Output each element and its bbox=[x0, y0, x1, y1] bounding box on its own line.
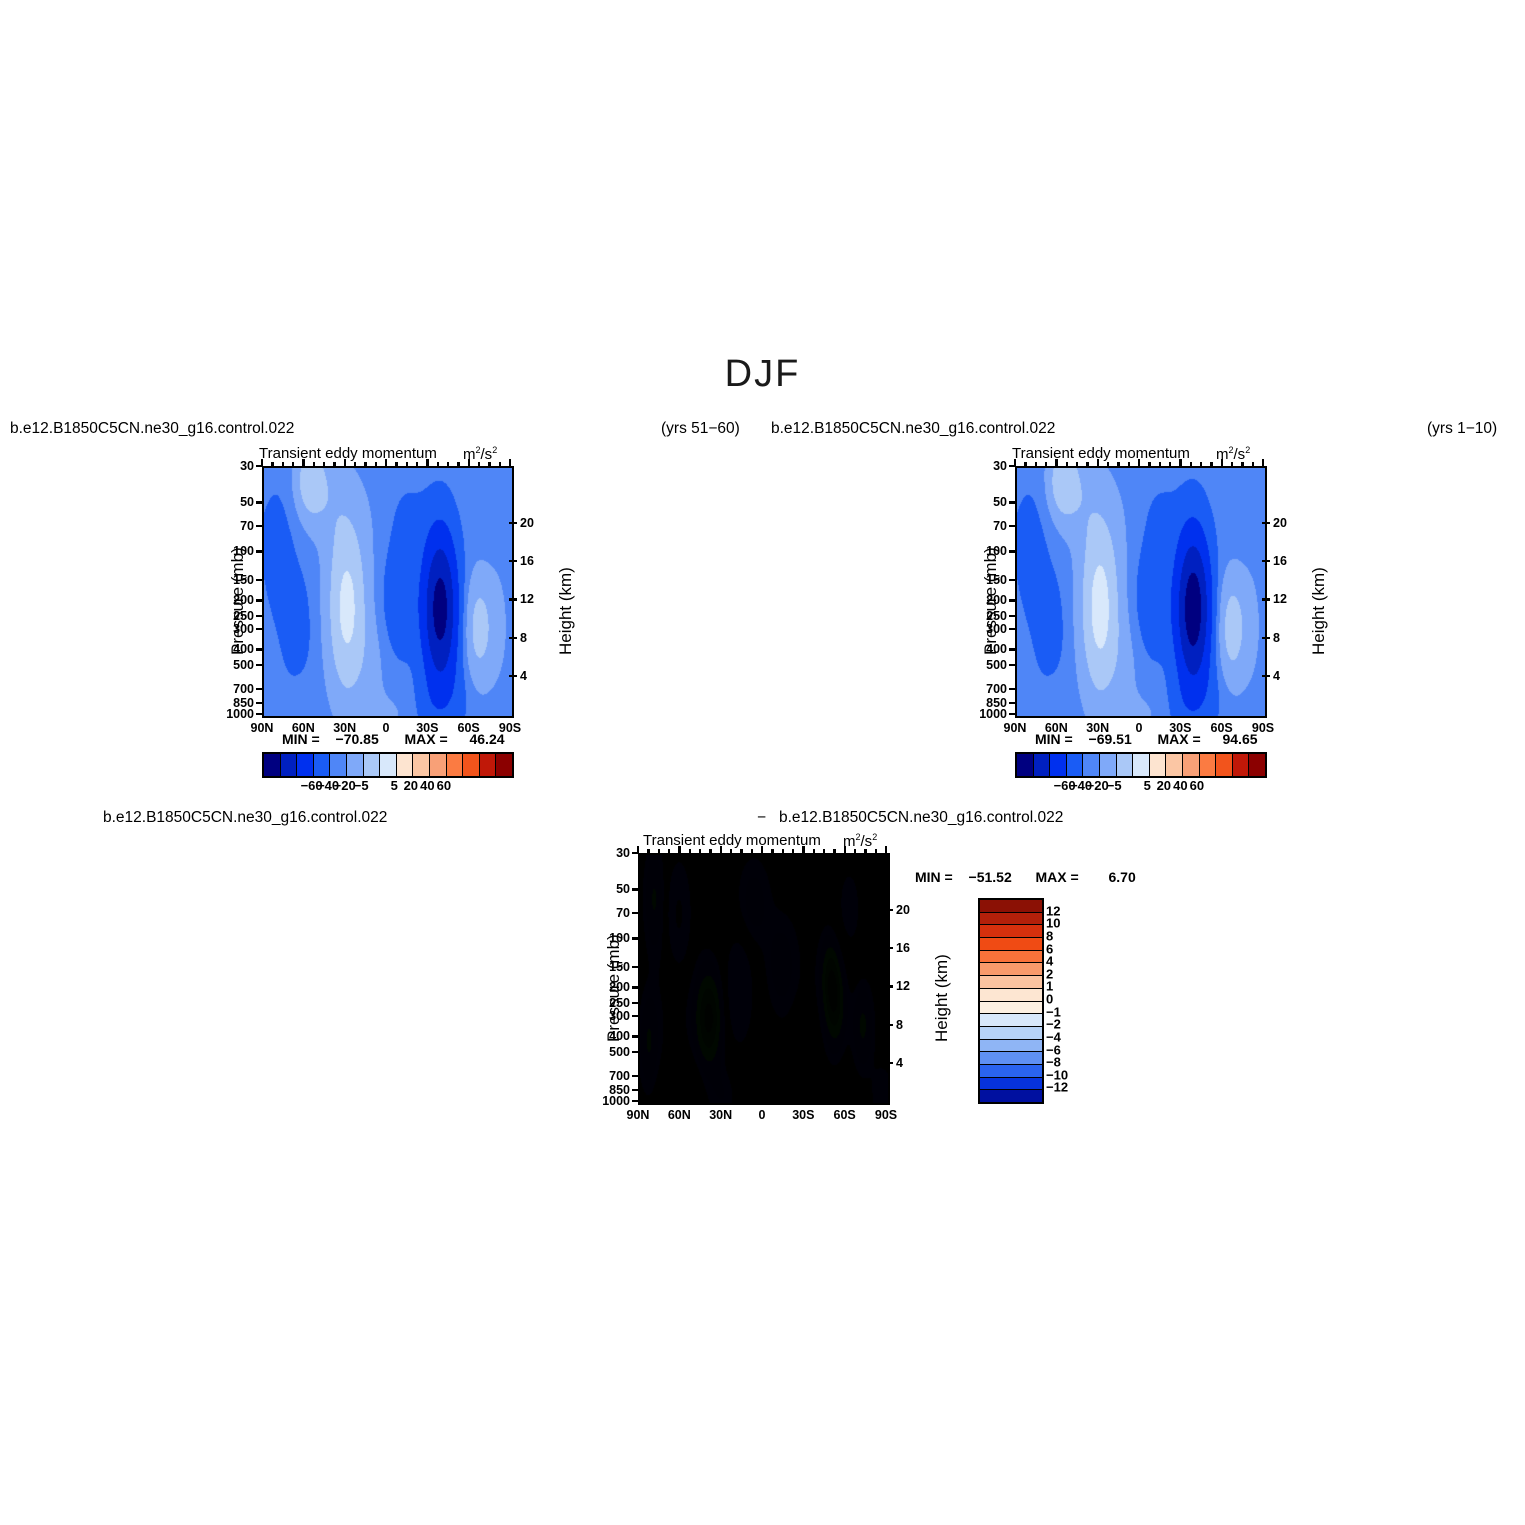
colorbar-difference bbox=[978, 898, 1044, 1104]
x-minor-tick bbox=[1221, 462, 1223, 467]
colorbar-label-6: 40 bbox=[420, 778, 434, 793]
y-tick-700: 700 bbox=[975, 682, 1007, 696]
x-minor-tick bbox=[1179, 462, 1181, 467]
colorbar-swatch-14 bbox=[1249, 754, 1265, 776]
x-minor-tick bbox=[1097, 462, 1099, 467]
diff-colorbar-swatch-1 bbox=[980, 913, 1042, 926]
x-minor-tick bbox=[1045, 462, 1047, 467]
x-minor-tick bbox=[771, 849, 773, 854]
x-tick-90N: 90N bbox=[1004, 721, 1027, 735]
x-minor-tick bbox=[1086, 462, 1088, 467]
y-tickmark bbox=[632, 1002, 639, 1004]
run-label-bottom-left: b.e12.B1850C5CN.ne30_g16.control.022 bbox=[103, 810, 387, 826]
height-tick-12: 12 bbox=[520, 592, 534, 606]
y-tick-300: 300 bbox=[598, 1009, 630, 1023]
x-minor-tick bbox=[292, 462, 294, 467]
y-tick-200: 200 bbox=[222, 593, 254, 607]
colorbar-swatch-12 bbox=[463, 754, 480, 776]
x-tickmark-top bbox=[1014, 459, 1016, 467]
run-label-bottom-right: b.e12.B1850C5CN.ne30_g16.control.022 bbox=[779, 810, 1063, 826]
colorbar-label-4: 5 bbox=[391, 778, 398, 793]
x-minor-tick bbox=[437, 462, 439, 467]
x-minor-tick bbox=[1159, 462, 1161, 467]
height-tick-16: 16 bbox=[896, 941, 910, 955]
x-tickmark-top bbox=[261, 459, 263, 467]
height-tickmark bbox=[885, 1024, 893, 1026]
colorbar-label-7: 60 bbox=[1190, 778, 1204, 793]
y-tick-30: 30 bbox=[598, 846, 630, 860]
diff-colorbar-swatch-9 bbox=[980, 1014, 1042, 1027]
x-tick-0: 0 bbox=[759, 1108, 766, 1122]
diff-colorbar-swatch-2 bbox=[980, 925, 1042, 938]
y-right-axis-label-top-left: Height (km) bbox=[556, 567, 576, 655]
x-tick-90N: 90N bbox=[627, 1108, 650, 1122]
y-tickmark bbox=[632, 1035, 639, 1037]
height-tick-8: 8 bbox=[1273, 631, 1280, 645]
y-right-axis-label-bottom: Height (km) bbox=[932, 954, 952, 1042]
x-minor-tick bbox=[1148, 462, 1150, 467]
x-minor-tick bbox=[689, 849, 691, 854]
colorbar-swatch-3 bbox=[1067, 754, 1084, 776]
y-tickmark bbox=[632, 912, 639, 914]
x-minor-tick bbox=[678, 849, 680, 854]
height-tickmark bbox=[885, 985, 893, 987]
colorbar-swatch-10 bbox=[1183, 754, 1200, 776]
y-tickmark bbox=[256, 648, 263, 650]
colorbar-swatch-10 bbox=[430, 754, 447, 776]
y-tick-200: 200 bbox=[598, 980, 630, 994]
x-tick-60S: 60S bbox=[834, 1108, 856, 1122]
y-tick-50: 50 bbox=[222, 495, 254, 509]
y-tickmark bbox=[1009, 702, 1016, 704]
years-label-top-left: (yrs 51−60) bbox=[661, 421, 740, 437]
y-tick-30: 30 bbox=[975, 459, 1007, 473]
y-tick-400: 400 bbox=[222, 642, 254, 656]
y-tickmark bbox=[256, 628, 263, 630]
x-minor-tick bbox=[447, 462, 449, 467]
y-tick-100: 100 bbox=[975, 544, 1007, 558]
x-minor-tick bbox=[813, 849, 815, 854]
x-minor-tick bbox=[792, 849, 794, 854]
diff-colorbar-swatch-12 bbox=[980, 1052, 1042, 1065]
colorbar-swatch-0 bbox=[264, 754, 281, 776]
x-minor-tick bbox=[782, 849, 784, 854]
x-minor-tick bbox=[751, 849, 753, 854]
y-tick-700: 700 bbox=[598, 1069, 630, 1083]
x-minor-tick bbox=[658, 849, 660, 854]
x-tick-90S: 90S bbox=[875, 1108, 897, 1122]
y-tick-30: 30 bbox=[222, 459, 254, 473]
colorbar-swatch-9 bbox=[1166, 754, 1183, 776]
y-tickmark bbox=[256, 713, 263, 715]
y-tickmark bbox=[1009, 501, 1016, 503]
y-tick-250: 250 bbox=[975, 609, 1007, 623]
height-tickmark bbox=[1262, 637, 1270, 639]
y-tick-70: 70 bbox=[222, 519, 254, 533]
y-tickmark bbox=[632, 1089, 639, 1091]
x-minor-tick bbox=[468, 462, 470, 467]
x-minor-tick bbox=[271, 462, 273, 467]
x-minor-tick bbox=[709, 849, 711, 854]
y-tick-1000: 1000 bbox=[975, 707, 1007, 721]
colorbar-swatch-5 bbox=[347, 754, 364, 776]
x-minor-tick bbox=[1035, 462, 1037, 467]
x-minor-tick bbox=[730, 849, 732, 854]
x-minor-tick bbox=[833, 849, 835, 854]
colorbar-swatch-2 bbox=[297, 754, 314, 776]
colorbar-swatch-13 bbox=[1233, 754, 1250, 776]
y-tickmark bbox=[1009, 525, 1016, 527]
x-minor-tick bbox=[1117, 462, 1119, 467]
y-tickmark bbox=[632, 937, 639, 939]
height-tickmark bbox=[509, 522, 517, 524]
height-tick-12: 12 bbox=[896, 979, 910, 993]
x-minor-tick bbox=[1076, 462, 1078, 467]
y-tick-50: 50 bbox=[598, 882, 630, 896]
y-tick-250: 250 bbox=[598, 996, 630, 1010]
y-tick-500: 500 bbox=[598, 1045, 630, 1059]
x-minor-tick bbox=[875, 849, 877, 854]
x-minor-tick bbox=[1231, 462, 1233, 467]
minmax-top-left: MIN = −70.85 MAX = 46.24 bbox=[282, 731, 505, 747]
colorbar-swatch-8 bbox=[397, 754, 414, 776]
colorbar-swatch-8 bbox=[1150, 754, 1167, 776]
y-tickmark bbox=[1009, 599, 1016, 601]
x-minor-tick bbox=[1241, 462, 1243, 467]
x-minor-tick bbox=[1210, 462, 1212, 467]
colorbar-swatch-13 bbox=[480, 754, 497, 776]
colorbar-label-5: 20 bbox=[1157, 778, 1171, 793]
x-minor-tick bbox=[740, 849, 742, 854]
x-minor-tick bbox=[699, 849, 701, 854]
colorbar-swatch-1 bbox=[1034, 754, 1051, 776]
y-tickmark bbox=[632, 1100, 639, 1102]
plot-title-bottom: Transient eddy momentum bbox=[643, 832, 821, 849]
plot-area-top-left bbox=[262, 466, 514, 718]
diff-colorbar-swatch-15 bbox=[980, 1090, 1042, 1102]
y-tickmark bbox=[256, 664, 263, 666]
colorbar-swatch-4 bbox=[1083, 754, 1100, 776]
height-tickmark bbox=[509, 598, 517, 600]
page-title: DJF bbox=[0, 355, 1525, 393]
diff-colorbar-swatch-7 bbox=[980, 989, 1042, 1002]
y-tickmark bbox=[1009, 615, 1016, 617]
height-tick-12: 12 bbox=[1273, 592, 1287, 606]
x-minor-tick bbox=[1200, 462, 1202, 467]
run-label-top-right: b.e12.B1850C5CN.ne30_g16.control.022 bbox=[771, 421, 1055, 437]
colorbar-swatch-3 bbox=[314, 754, 331, 776]
diff-colorbar-swatch-10 bbox=[980, 1027, 1042, 1040]
y-tick-70: 70 bbox=[598, 906, 630, 920]
x-minor-tick bbox=[802, 849, 804, 854]
x-minor-tick bbox=[1128, 462, 1130, 467]
x-minor-tick bbox=[313, 462, 315, 467]
x-minor-tick bbox=[1190, 462, 1192, 467]
x-minor-tick bbox=[344, 462, 346, 467]
y-tick-1000: 1000 bbox=[598, 1094, 630, 1108]
colorbar-swatch-12 bbox=[1216, 754, 1233, 776]
y-tickmark bbox=[256, 599, 263, 601]
diff-colorbar-swatch-4 bbox=[980, 951, 1042, 964]
height-tickmark bbox=[885, 947, 893, 949]
colorbar-label-4: 5 bbox=[1144, 778, 1151, 793]
y-tick-400: 400 bbox=[975, 642, 1007, 656]
minmax-top-right: MIN = −69.51 MAX = 94.65 bbox=[1035, 731, 1258, 747]
x-minor-tick bbox=[395, 462, 397, 467]
height-tickmark bbox=[1262, 522, 1270, 524]
y-tick-100: 100 bbox=[598, 931, 630, 945]
x-tickmark-top bbox=[637, 846, 639, 854]
x-minor-tick bbox=[823, 849, 825, 854]
x-minor-tick bbox=[457, 462, 459, 467]
y-tickmark bbox=[1009, 579, 1016, 581]
x-minor-tick bbox=[323, 462, 325, 467]
height-tick-8: 8 bbox=[896, 1018, 903, 1032]
diff-colorbar-swatch-14 bbox=[980, 1078, 1042, 1091]
y-tickmark bbox=[632, 1015, 639, 1017]
colorbar-label-7: 60 bbox=[437, 778, 451, 793]
colorbar-top-left bbox=[262, 752, 514, 778]
y-tickmark bbox=[256, 550, 263, 552]
colorbar-swatch-0 bbox=[1017, 754, 1034, 776]
y-tick-1000: 1000 bbox=[222, 707, 254, 721]
y-tickmark bbox=[632, 1075, 639, 1077]
y-tick-500: 500 bbox=[222, 658, 254, 672]
height-tick-16: 16 bbox=[520, 554, 534, 568]
height-tick-20: 20 bbox=[896, 903, 910, 917]
height-tickmark bbox=[1262, 675, 1270, 677]
height-tickmark bbox=[1262, 598, 1270, 600]
colorbar-swatch-9 bbox=[413, 754, 430, 776]
x-minor-tick bbox=[1024, 462, 1026, 467]
height-tick-16: 16 bbox=[1273, 554, 1287, 568]
colorbar-swatch-7 bbox=[380, 754, 397, 776]
y-tickmark bbox=[256, 688, 263, 690]
height-tickmark bbox=[1262, 560, 1270, 562]
diff-colorbar-swatch-0 bbox=[980, 900, 1042, 913]
colorbar-label-2: −20 bbox=[334, 778, 356, 793]
height-tick-4: 4 bbox=[1273, 669, 1280, 683]
diff-colorbar-swatch-13 bbox=[980, 1065, 1042, 1078]
plot-area-bottom bbox=[638, 853, 890, 1105]
colorbar-label-2: −20 bbox=[1087, 778, 1109, 793]
y-tick-150: 150 bbox=[975, 573, 1007, 587]
run-label-top-left: b.e12.B1850C5CN.ne30_g16.control.022 bbox=[10, 421, 294, 437]
y-tick-700: 700 bbox=[222, 682, 254, 696]
x-minor-tick bbox=[364, 462, 366, 467]
diff-colorbar-swatch-6 bbox=[980, 976, 1042, 989]
x-minor-tick bbox=[1055, 462, 1057, 467]
x-minor-tick bbox=[668, 849, 670, 854]
y-tick-200: 200 bbox=[975, 593, 1007, 607]
y-tick-150: 150 bbox=[222, 573, 254, 587]
x-minor-tick bbox=[282, 462, 284, 467]
colorbar-label-3: −5 bbox=[1107, 778, 1122, 793]
x-minor-tick bbox=[720, 849, 722, 854]
colorbar-label-6: 40 bbox=[1173, 778, 1187, 793]
x-minor-tick bbox=[406, 462, 408, 467]
y-tickmark bbox=[1009, 688, 1016, 690]
diff-colorbar-swatch-8 bbox=[980, 1002, 1042, 1015]
x-minor-tick bbox=[1107, 462, 1109, 467]
x-minor-tick bbox=[426, 462, 428, 467]
colorbar-label-3: −5 bbox=[354, 778, 369, 793]
x-minor-tick bbox=[647, 849, 649, 854]
y-tick-300: 300 bbox=[222, 622, 254, 636]
colorbar-swatch-4 bbox=[330, 754, 347, 776]
height-tickmark bbox=[509, 675, 517, 677]
colorbar-swatch-6 bbox=[1117, 754, 1134, 776]
x-minor-tick bbox=[499, 462, 501, 467]
colorbar-swatch-11 bbox=[1200, 754, 1217, 776]
minmax-bottom: MIN = −51.52 MAX = 6.70 bbox=[915, 869, 1136, 885]
colorbar-swatch-11 bbox=[447, 754, 464, 776]
y-tick-400: 400 bbox=[598, 1029, 630, 1043]
plot-title-top-left: Transient eddy momentum bbox=[259, 445, 437, 462]
y-tickmark bbox=[632, 986, 639, 988]
years-label-top-right: (yrs 1−10) bbox=[1427, 421, 1497, 437]
x-tick-30S: 30S bbox=[792, 1108, 814, 1122]
x-tickmark-top bbox=[1262, 459, 1264, 467]
colorbar-swatch-5 bbox=[1100, 754, 1117, 776]
y-tick-150: 150 bbox=[598, 960, 630, 974]
difference-minus-sign: − bbox=[757, 810, 766, 826]
y-tickmark bbox=[256, 501, 263, 503]
diff-colorbar-swatch-11 bbox=[980, 1040, 1042, 1053]
x-minor-tick bbox=[854, 849, 856, 854]
height-tick-20: 20 bbox=[1273, 516, 1287, 530]
y-tickmark bbox=[632, 888, 639, 890]
x-minor-tick bbox=[844, 849, 846, 854]
diff-colorbar-label-14: −12 bbox=[1046, 1080, 1068, 1095]
height-tick-20: 20 bbox=[520, 516, 534, 530]
x-minor-tick bbox=[302, 462, 304, 467]
x-minor-tick bbox=[416, 462, 418, 467]
x-tickmark-top bbox=[885, 846, 887, 854]
y-tickmark bbox=[1009, 550, 1016, 552]
y-tickmark bbox=[256, 525, 263, 527]
y-tickmark bbox=[1009, 713, 1016, 715]
colorbar-top-right bbox=[1015, 752, 1267, 778]
colorbar-swatch-6 bbox=[364, 754, 381, 776]
x-minor-tick bbox=[354, 462, 356, 467]
plot-units-bottom: m2/s2 bbox=[843, 832, 877, 850]
colorbar-swatch-14 bbox=[496, 754, 512, 776]
y-tick-50: 50 bbox=[975, 495, 1007, 509]
x-tick-60N: 60N bbox=[668, 1108, 691, 1122]
height-tick-4: 4 bbox=[520, 669, 527, 683]
diff-colorbar-swatch-5 bbox=[980, 963, 1042, 976]
x-minor-tick bbox=[761, 849, 763, 854]
x-minor-tick bbox=[333, 462, 335, 467]
height-tickmark bbox=[885, 909, 893, 911]
x-minor-tick bbox=[385, 462, 387, 467]
y-tickmark bbox=[256, 615, 263, 617]
colorbar-swatch-7 bbox=[1133, 754, 1150, 776]
plot-area-top-right bbox=[1015, 466, 1267, 718]
y-tickmark bbox=[1009, 628, 1016, 630]
y-tickmark bbox=[256, 702, 263, 704]
x-minor-tick bbox=[1169, 462, 1171, 467]
y-right-axis-label-top-right: Height (km) bbox=[1309, 567, 1329, 655]
x-minor-tick bbox=[478, 462, 480, 467]
y-tick-500: 500 bbox=[975, 658, 1007, 672]
y-tick-250: 250 bbox=[222, 609, 254, 623]
x-minor-tick bbox=[1138, 462, 1140, 467]
y-tick-100: 100 bbox=[222, 544, 254, 558]
x-tickmark-top bbox=[509, 459, 511, 467]
x-tick-90N: 90N bbox=[251, 721, 274, 735]
colorbar-swatch-1 bbox=[281, 754, 298, 776]
y-tickmark bbox=[632, 966, 639, 968]
x-tick-30N: 30N bbox=[709, 1108, 732, 1122]
diff-colorbar-swatch-3 bbox=[980, 938, 1042, 951]
colorbar-swatch-2 bbox=[1050, 754, 1067, 776]
colorbar-label-5: 20 bbox=[404, 778, 418, 793]
y-tick-70: 70 bbox=[975, 519, 1007, 533]
x-minor-tick bbox=[488, 462, 490, 467]
y-tickmark bbox=[1009, 648, 1016, 650]
plot-title-top-right: Transient eddy momentum bbox=[1012, 445, 1190, 462]
height-tickmark bbox=[509, 560, 517, 562]
height-tickmark bbox=[885, 1062, 893, 1064]
height-tick-4: 4 bbox=[896, 1056, 903, 1070]
y-tickmark bbox=[1009, 664, 1016, 666]
y-tickmark bbox=[632, 1051, 639, 1053]
height-tickmark bbox=[509, 637, 517, 639]
x-minor-tick bbox=[375, 462, 377, 467]
y-tickmark bbox=[256, 579, 263, 581]
x-minor-tick bbox=[1252, 462, 1254, 467]
height-tick-8: 8 bbox=[520, 631, 527, 645]
x-minor-tick bbox=[1066, 462, 1068, 467]
x-minor-tick bbox=[864, 849, 866, 854]
y-tick-300: 300 bbox=[975, 622, 1007, 636]
